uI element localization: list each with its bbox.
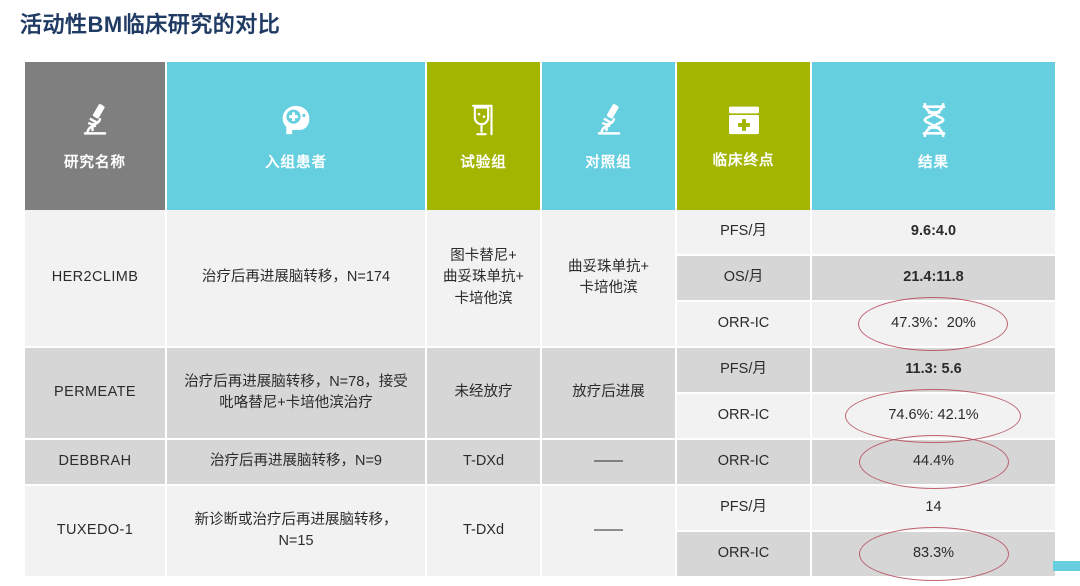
table-row: TUXEDO-1新诊断或治疗后再进展脑转移，N=15T-DXd——PFS/月14 (25, 486, 1055, 532)
cell-treatment-arm: T-DXd (427, 486, 542, 578)
table-header-row: 研究名称 入组患者 (25, 62, 1055, 210)
iv-drip-icon (465, 100, 503, 140)
cell-result: 14 (812, 486, 1055, 532)
cell-clinical-endpoint: ORR-IC (677, 532, 812, 578)
cell-result: 21.4:11.8 (812, 256, 1055, 302)
cell-study-name: DEBBRAH (25, 440, 167, 486)
medical-kit-icon (724, 102, 764, 138)
result-value: 44.4% (913, 453, 954, 469)
cell-enrolled-patients: 新诊断或治疗后再进展脑转移，N=15 (167, 486, 427, 578)
cell-control-arm: 曲妥珠单抗+卡培他滨 (542, 210, 677, 348)
cell-enrolled-patients: 治疗后再进展脑转移，N=78，接受吡咯替尼+卡培他滨治疗 (167, 348, 427, 440)
cell-result: 11.3: 5.6 (812, 348, 1055, 394)
result-highlight-annotation: 44.4% (907, 448, 960, 475)
cell-result: 83.3% (812, 532, 1055, 578)
table-row: DEBBRAH治疗后再进展脑转移，N=9T-DXd——ORR-IC44.4% (25, 440, 1055, 486)
result-highlight-annotation: 83.3% (907, 540, 960, 567)
column-header-study-name: 研究名称 (25, 62, 167, 210)
column-header-clinical-endpoint: 临床终点 (677, 62, 812, 210)
result-value: 83.3% (913, 545, 954, 561)
result-highlight-annotation: 74.6%: 42.1% (882, 402, 984, 429)
clinical-trial-comparison-table: 研究名称 入组患者 (25, 62, 1055, 578)
cell-clinical-endpoint: PFS/月 (677, 486, 812, 532)
cell-result: 74.6%: 42.1% (812, 394, 1055, 440)
cell-result: 9.6:4.0 (812, 210, 1055, 256)
cell-control-arm: —— (542, 440, 677, 486)
cell-treatment-arm: T-DXd (427, 440, 542, 486)
cell-control-arm: 放疗后进展 (542, 348, 677, 440)
column-header-label: 入组患者 (265, 151, 327, 172)
accent-bar (1053, 561, 1080, 571)
cell-control-arm: —— (542, 486, 677, 578)
table-row: PERMEATE治疗后再进展脑转移，N=78，接受吡咯替尼+卡培他滨治疗未经放疗… (25, 348, 1055, 394)
microscope-icon (589, 100, 629, 140)
cell-clinical-endpoint: OS/月 (677, 256, 812, 302)
column-header-treatment-arm: 试验组 (427, 62, 542, 210)
cell-result: 44.4% (812, 440, 1055, 486)
column-header-results: 结果 (812, 62, 1055, 210)
dna-helix-icon (916, 100, 952, 140)
cell-study-name: HER2CLIMB (25, 210, 167, 348)
microscope-icon (75, 100, 115, 140)
column-header-label: 对照组 (585, 151, 632, 172)
column-header-label: 试验组 (460, 151, 507, 172)
head-plus-icon (276, 100, 316, 140)
cell-result: 47.3%：20% (812, 302, 1055, 348)
column-header-enrolled-patients: 入组患者 (167, 62, 427, 210)
cell-treatment-arm: 图卡替尼+曲妥珠单抗+卡培他滨 (427, 210, 542, 348)
cell-clinical-endpoint: PFS/月 (677, 210, 812, 256)
cell-clinical-endpoint: PFS/月 (677, 348, 812, 394)
page-title: 活动性BM临床研究的对比 (20, 7, 280, 39)
cell-treatment-arm: 未经放疗 (427, 348, 542, 440)
result-highlight-annotation: 47.3%：20% (885, 310, 982, 337)
cell-enrolled-patients: 治疗后再进展脑转移，N=9 (167, 440, 427, 486)
column-header-label: 结果 (918, 151, 949, 172)
table-body: HER2CLIMB治疗后再进展脑转移，N=174图卡替尼+曲妥珠单抗+卡培他滨曲… (25, 210, 1055, 578)
cell-clinical-endpoint: ORR-IC (677, 440, 812, 486)
result-value: 74.6%: 42.1% (888, 407, 978, 423)
cell-clinical-endpoint: ORR-IC (677, 394, 812, 440)
column-header-control-arm: 对照组 (542, 62, 677, 210)
cell-study-name: TUXEDO-1 (25, 486, 167, 578)
cell-clinical-endpoint: ORR-IC (677, 302, 812, 348)
cell-enrolled-patients: 治疗后再进展脑转移，N=174 (167, 210, 427, 348)
cell-study-name: PERMEATE (25, 348, 167, 440)
column-header-label: 临床终点 (713, 149, 775, 170)
column-header-label: 研究名称 (64, 151, 126, 172)
result-value: 47.3%：20% (891, 315, 976, 331)
table-row: HER2CLIMB治疗后再进展脑转移，N=174图卡替尼+曲妥珠单抗+卡培他滨曲… (25, 210, 1055, 256)
